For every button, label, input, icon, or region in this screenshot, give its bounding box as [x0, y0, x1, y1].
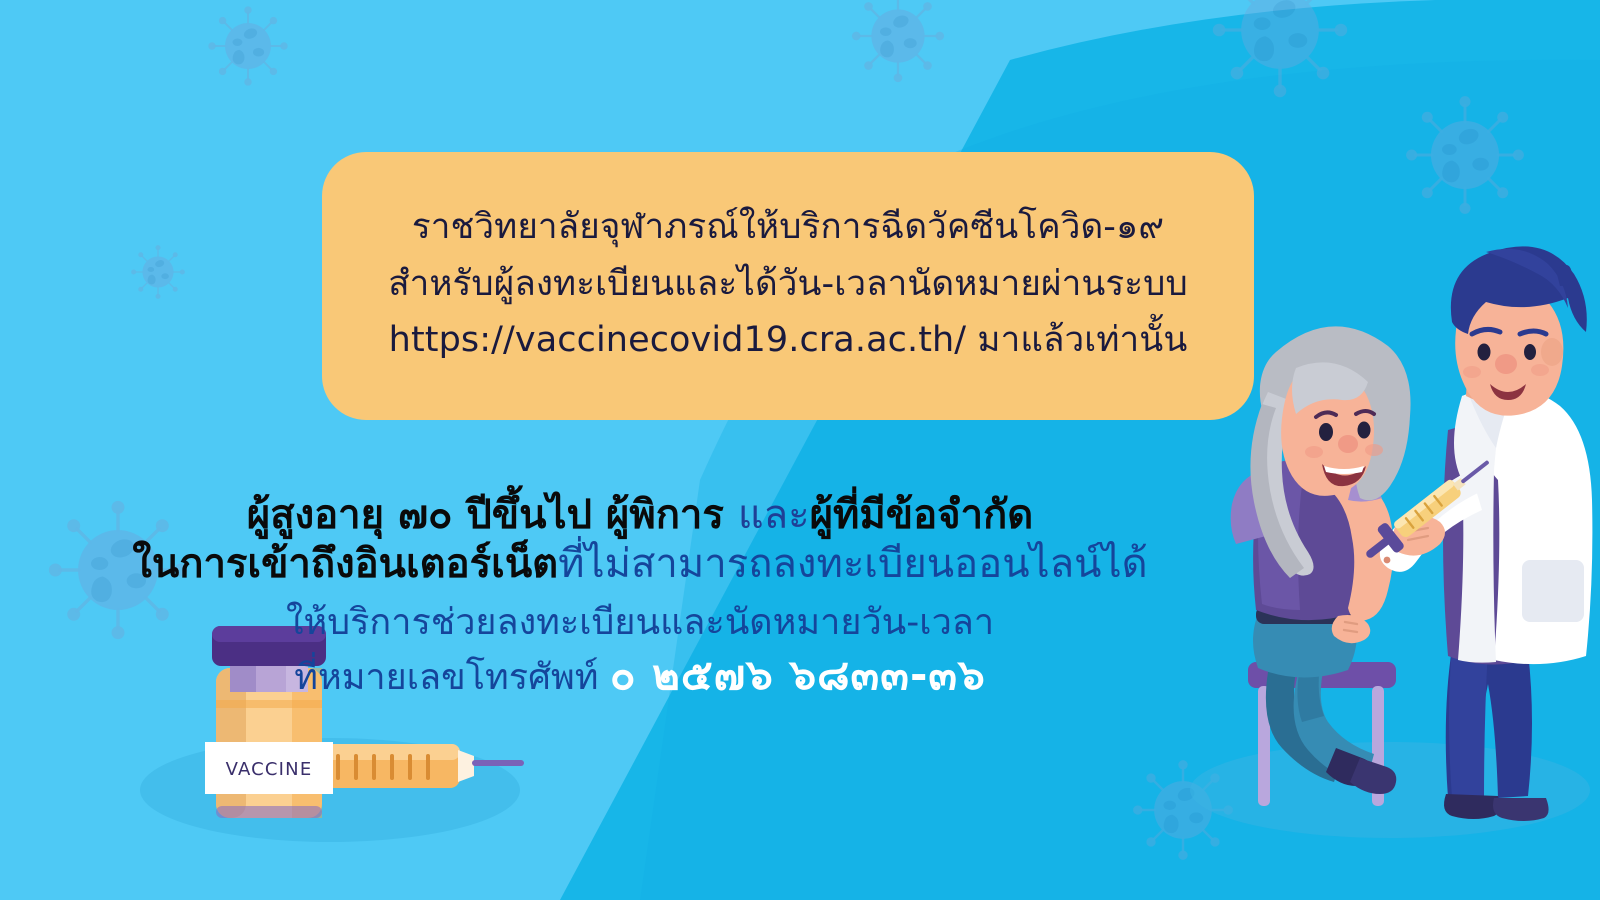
callout-line-2: สำหรับผู้ลงทะเบียนและได้วัน-เวลานัดหมายผ…	[388, 256, 1188, 313]
vaccine-vial-label: VACCINE	[226, 759, 313, 780]
phone-line: ที่หมายเลขโทรศัพท์ ๐ ๒๕๗๖ ๖๘๓๓-๓๖	[0, 650, 1280, 699]
background-artwork: VACCINE	[0, 0, 1600, 900]
service-line: ให้บริการช่วยลงทะเบียนและนัดหมายวัน-เวลา	[0, 602, 1280, 644]
eligibility-message: ผู้สูงอายุ ๗๐ ปีขึ้นไป ผู้พิการ และผู้ที…	[0, 492, 1280, 699]
phone-number: ๐ ๒๕๗๖ ๖๘๓๓-๓๖	[610, 650, 986, 699]
eligibility-line-1: ผู้สูงอายุ ๗๐ ปีขึ้นไป ผู้พิการ และผู้ที…	[0, 492, 1280, 539]
callout-line-3: https://vaccinecovid19.cra.ac.th/ มาแล้ว…	[389, 312, 1188, 369]
eligibility-line-1-conjunction: และ	[738, 492, 810, 538]
eligibility-line-1-part-a: ผู้สูงอายุ ๗๐ ปีขึ้นไป ผู้พิการ	[247, 492, 738, 538]
callout-line-1: ราชวิทยาลัยจุฬาภรณ์ให้บริการฉีดวัคซีนโคว…	[412, 199, 1164, 256]
announcement-callout: ราชวิทยาลัยจุฬาภรณ์ให้บริการฉีดวัคซีนโคว…	[322, 152, 1254, 420]
eligibility-line-2-part-b: ที่ไม่สามารถลงทะเบียนออนไลน์ได้	[558, 541, 1147, 587]
phone-label: ที่หมายเลขโทรศัพท์	[294, 657, 610, 698]
eligibility-line-2-part-a: ในการเข้าถึงอินเตอร์เน็ต	[132, 541, 558, 587]
poster-canvas: VACCINE	[0, 0, 1600, 900]
eligibility-line-1-part-c: ผู้ที่มีข้อจำกัด	[810, 492, 1034, 538]
eligibility-line-2: ในการเข้าถึงอินเตอร์เน็ตที่ไม่สามารถลงทะ…	[0, 541, 1280, 588]
